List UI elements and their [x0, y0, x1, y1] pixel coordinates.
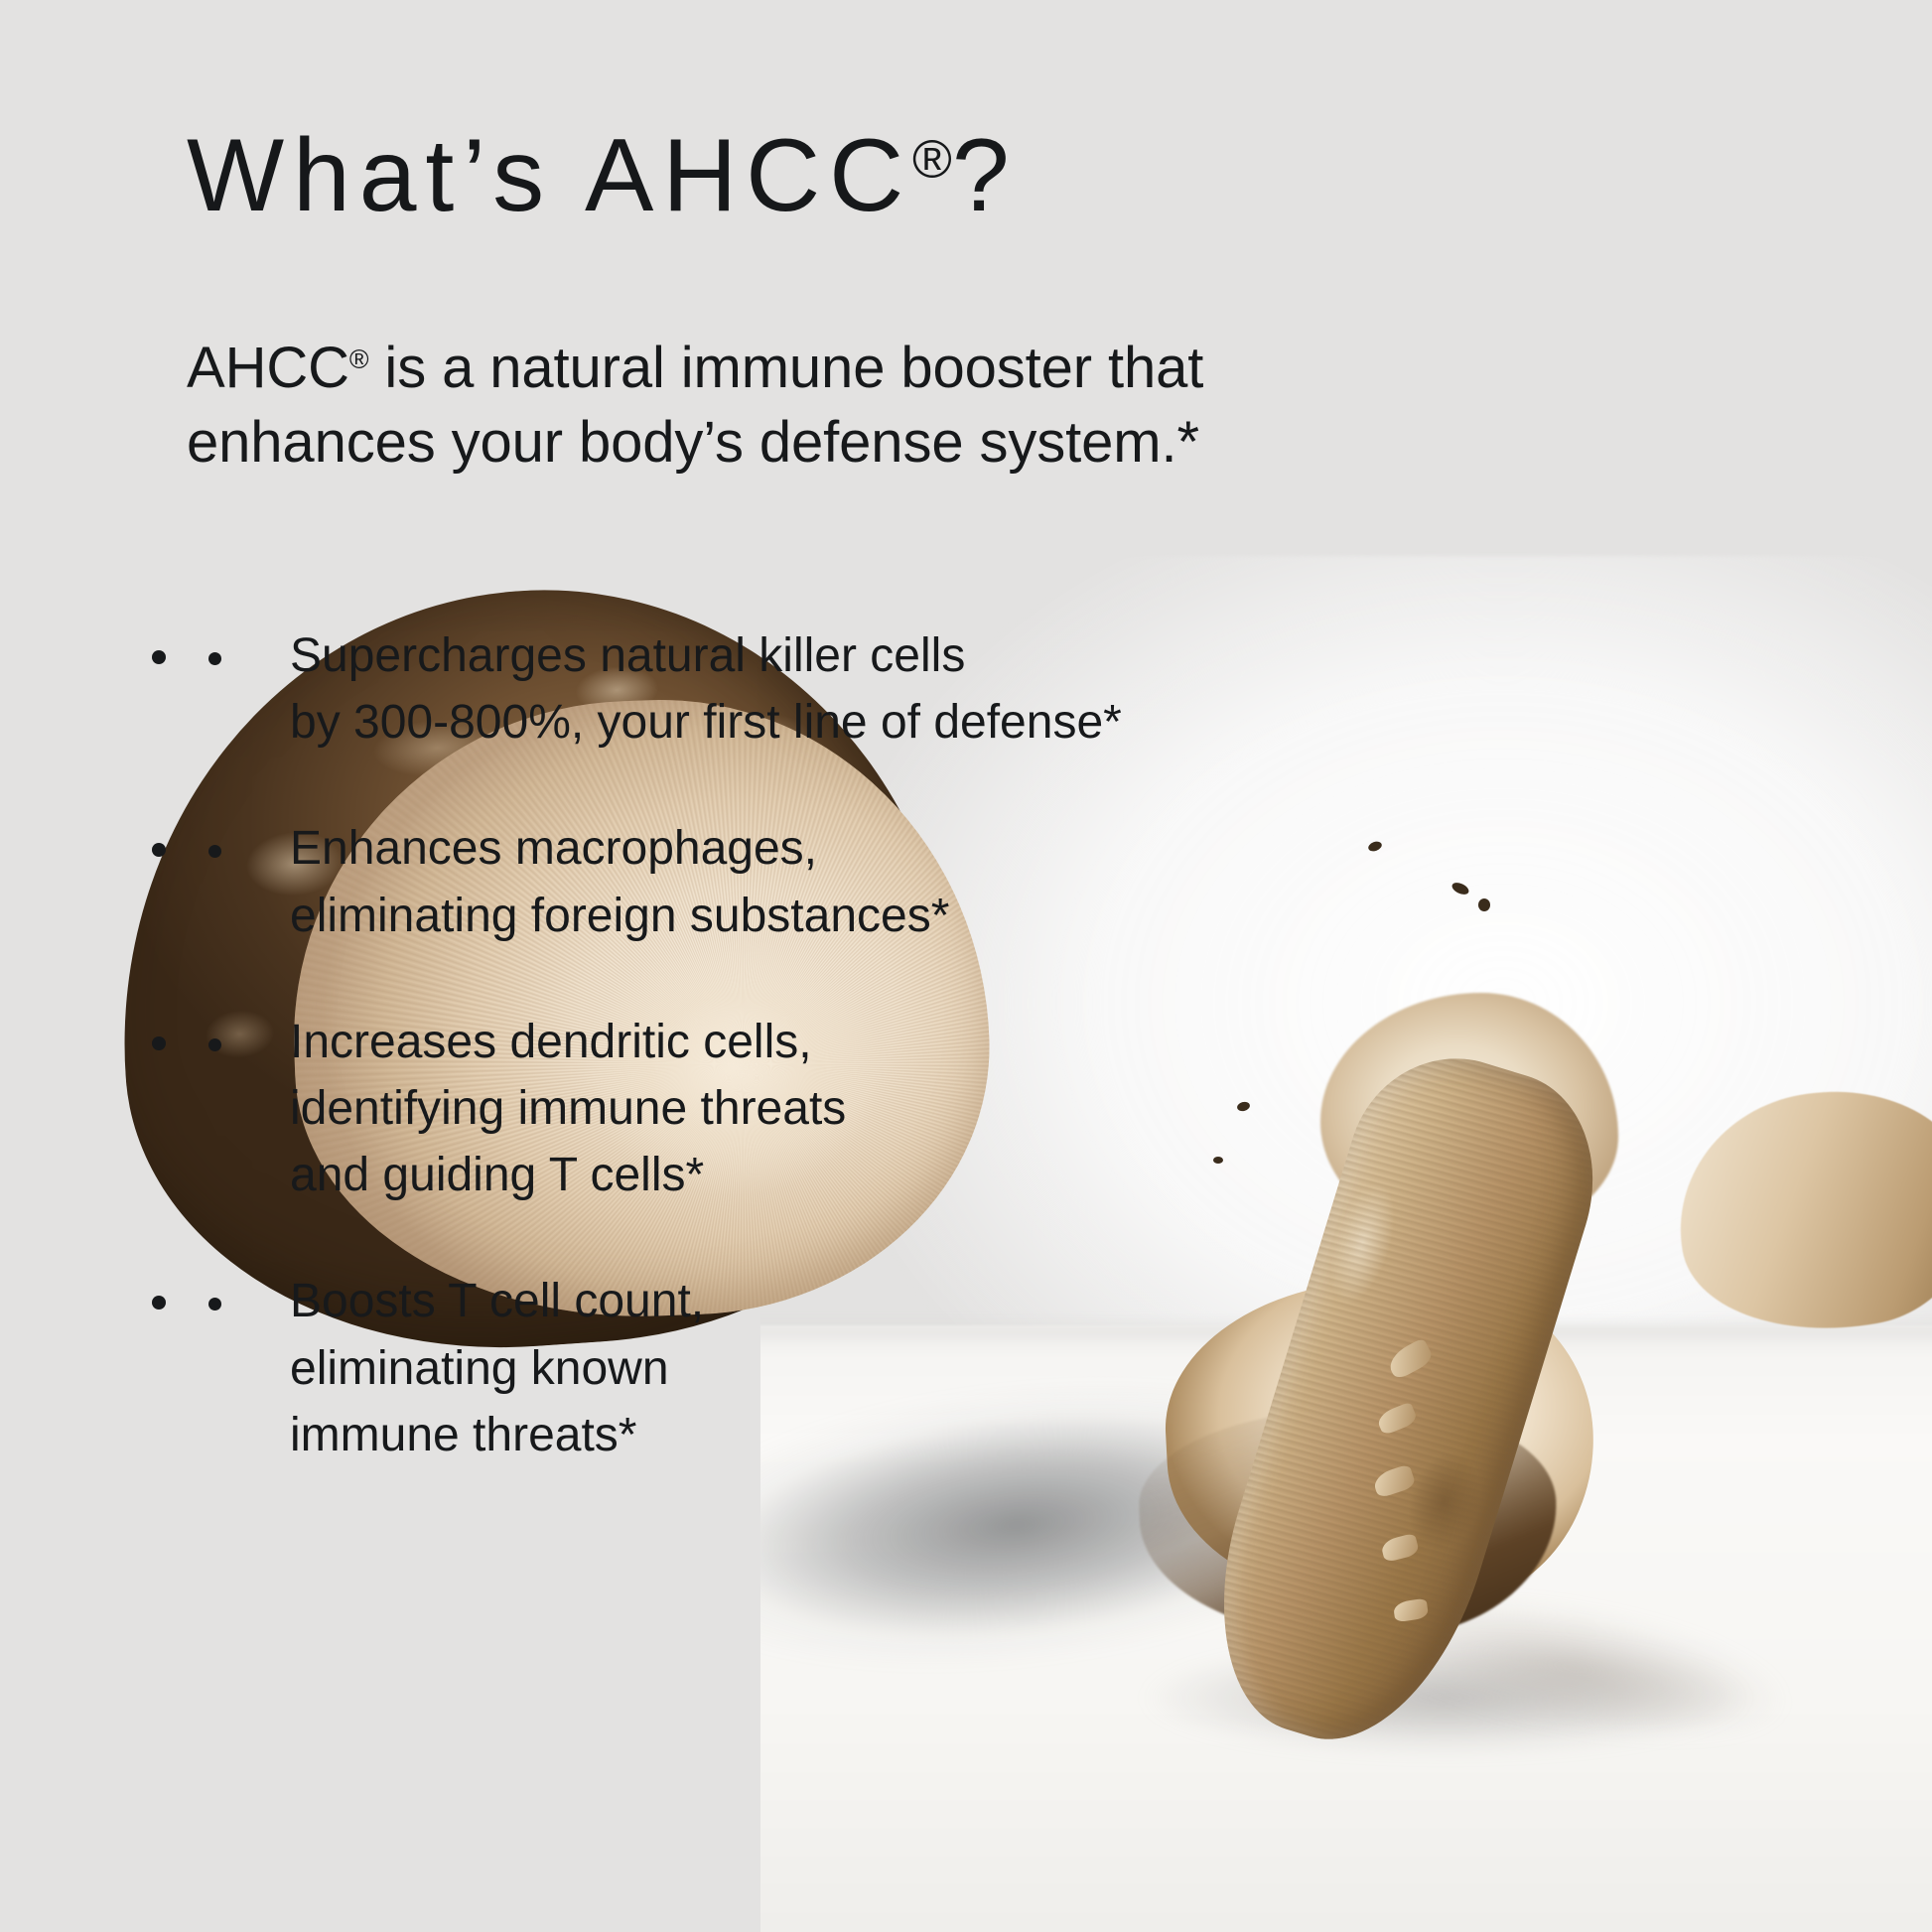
bullet-line: Enhances macrophages, — [290, 815, 1299, 882]
bullet-line: eliminating foreign substances* — [290, 883, 1299, 949]
bullet-dot-icon — [208, 1298, 221, 1311]
bullet-t-cell-count: Boosts T cell count, eliminating known i… — [187, 1268, 1299, 1468]
subheading-line1: is a natural immune booster that — [368, 336, 1203, 400]
subheading-line2: enhances your body’s defense system.* — [187, 410, 1199, 475]
bullet-dot-icon — [208, 652, 221, 665]
bullet-line: and guiding T cells* — [290, 1142, 1299, 1208]
bullet-line: Supercharges natural killer cells — [290, 622, 1299, 689]
bullet-line: Increases dendritic cells, — [290, 1009, 1299, 1075]
ahcc-infographic-card: What’s AHCC®? AHCC® is a natural immune … — [0, 0, 1932, 1932]
page-title: What’s AHCC®? — [187, 123, 1019, 228]
bullet-line: immune threats* — [290, 1402, 1299, 1468]
gill-speck — [1478, 898, 1490, 911]
registered-trademark-icon: ® — [349, 345, 369, 374]
bullet-dendritic-cells: Increases dendritic cells, identifying i… — [187, 1009, 1299, 1209]
subheading: AHCC® is a natural immune booster thaten… — [187, 331, 1289, 481]
page-title-text: What’s AHCC — [187, 118, 912, 233]
bullet-line: eliminating known — [290, 1335, 1299, 1402]
bullet-natural-killer-cells: Supercharges natural killer cells by 300… — [187, 622, 1299, 756]
registered-trademark-icon: ® — [912, 129, 952, 189]
subheading-brand: AHCC — [187, 336, 349, 400]
bullet-line: identifying immune threats — [290, 1075, 1299, 1142]
bullet-line: Boosts T cell count, — [290, 1268, 1299, 1334]
page-title-suffix: ? — [952, 118, 1019, 233]
text-column: What’s AHCC®? AHCC® is a natural immune … — [187, 0, 1358, 1932]
bullet-line: by 300-800%, your first line of defense* — [290, 689, 1299, 756]
bullet-dot-icon — [208, 845, 221, 858]
bullet-dot-icon — [208, 1038, 221, 1051]
benefits-list: Supercharges natural killer cells by 300… — [187, 622, 1299, 1528]
bullet-macrophages: Enhances macrophages, eliminating foreig… — [187, 815, 1299, 948]
